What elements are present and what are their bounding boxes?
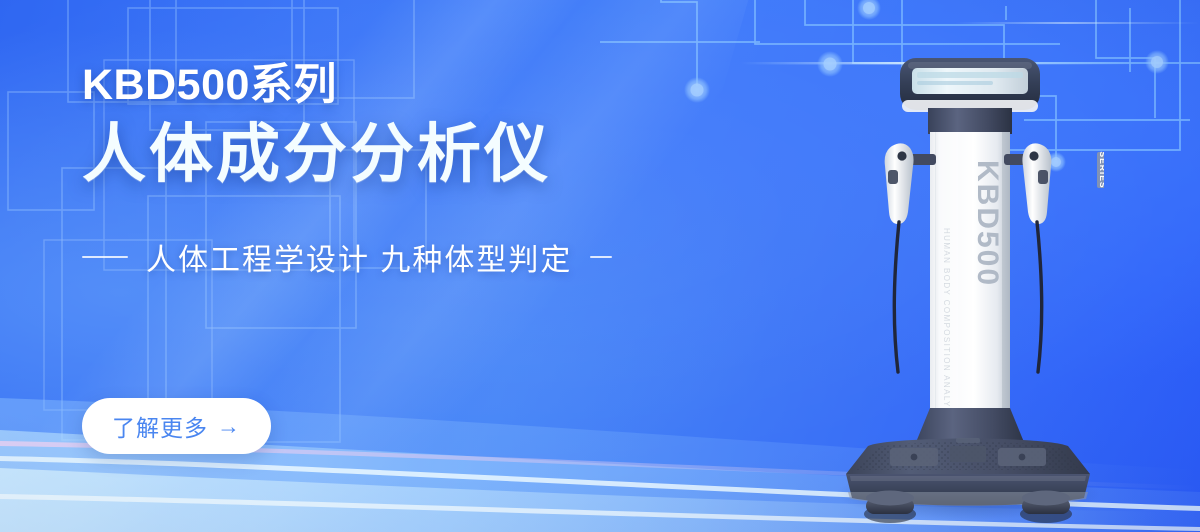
arrow-right-icon: →	[217, 415, 241, 438]
banner-copy: KBD500系列 人体成分分析仪 人体工程学设计 九种体型判定	[82, 62, 722, 279]
device-display-head	[900, 58, 1040, 112]
subtitle-dash-left	[82, 256, 128, 258]
product-series-label: KBD500系列	[82, 62, 722, 108]
grip-right	[1022, 143, 1051, 224]
learn-more-label: 了解更多	[112, 409, 208, 443]
device-series-badge: SERIES	[1097, 151, 1104, 188]
svg-text:SERIES: SERIES	[1098, 151, 1104, 188]
subtitle-dash-right	[590, 256, 612, 258]
body-composition-analyzer-device: KBD500 SERIES HUMAN BODY COMPOSITION ANA…	[832, 42, 1104, 528]
device-column: KBD500 SERIES HUMAN BODY COMPOSITION ANA…	[930, 132, 1104, 432]
device-brand-text: KBD500	[971, 160, 1004, 287]
banner-subtitle: 人体工程学设计 九种体型判定	[146, 235, 572, 279]
page-title: 人体成分分析仪	[82, 118, 722, 191]
banner-subtitle-row: 人体工程学设计 九种体型判定	[82, 235, 722, 279]
promo-banner: KBD500 SERIES HUMAN BODY COMPOSITION ANA…	[0, 0, 1200, 532]
grip-left	[885, 143, 914, 224]
learn-more-button[interactable]: 了解更多 →	[82, 398, 271, 454]
